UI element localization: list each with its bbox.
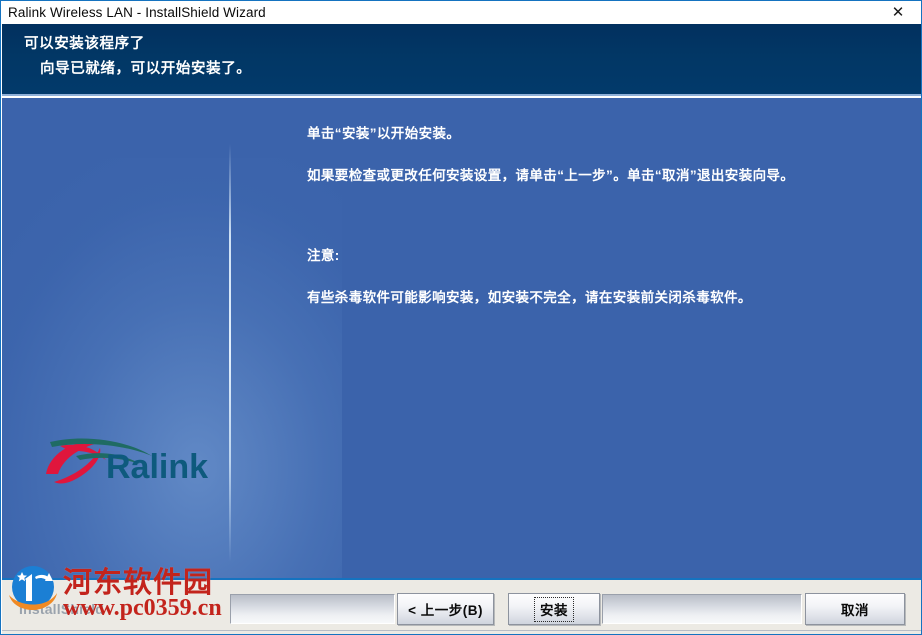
cancel-button-label: 取消 bbox=[841, 599, 869, 619]
back-button-label: < 上一步(B) bbox=[408, 599, 483, 619]
header-title: 可以安装该程序了 bbox=[24, 32, 145, 53]
install-button[interactable]: 安装 bbox=[508, 593, 600, 625]
instruction-line-2: 如果要检查或更改任何安装设置，请单击“上一步”。单击“取消”退出安装向导。 bbox=[307, 164, 907, 184]
window-title: Ralink Wireless LAN - InstallShield Wiza… bbox=[1, 5, 266, 20]
footer-bottom-strip bbox=[2, 630, 921, 635]
installshield-wizard-window: Ralink Wireless LAN - InstallShield Wiza… bbox=[0, 0, 922, 635]
wizard-body: Ralink 单击“安装”以开始安装。 如果要检查或更改任何安装设置，请单击“上… bbox=[2, 98, 921, 578]
wizard-footer: < 上一步(B) 安装 取消 bbox=[2, 578, 921, 634]
close-button[interactable]: ✕ bbox=[875, 1, 921, 24]
back-button[interactable]: < 上一步(B) bbox=[397, 593, 494, 625]
install-button-label: 安装 bbox=[534, 597, 574, 622]
sidebar-glow bbox=[2, 158, 342, 578]
cancel-button[interactable]: 取消 bbox=[805, 593, 905, 625]
installshield-brand: InstallShield bbox=[19, 601, 104, 617]
note-body: 有些杀毒软件可能影响安装，如安装不完全，请在安装前关闭杀毒软件。 bbox=[307, 286, 907, 306]
wizard-content: 单击“安装”以开始安装。 如果要检查或更改任何安装设置，请单击“上一步”。单击“… bbox=[307, 122, 907, 306]
close-icon: ✕ bbox=[892, 5, 905, 20]
wizard-header: 可以安装该程序了 向导已就绪，可以开始安装了。 bbox=[2, 24, 921, 96]
footer-inner: < 上一步(B) 安装 取消 bbox=[2, 580, 921, 630]
ralink-logo: Ralink bbox=[40, 430, 220, 492]
sidebar-divider bbox=[229, 144, 231, 562]
header-subtitle: 向导已就绪，可以开始安装了。 bbox=[40, 57, 251, 78]
instruction-line-1: 单击“安装”以开始安装。 bbox=[307, 122, 907, 142]
footer-inset-left bbox=[230, 594, 395, 624]
title-bar: Ralink Wireless LAN - InstallShield Wiza… bbox=[1, 1, 921, 24]
svg-text:Ralink: Ralink bbox=[106, 448, 208, 486]
footer-inset-right bbox=[602, 594, 802, 624]
note-title: 注意: bbox=[307, 244, 907, 264]
